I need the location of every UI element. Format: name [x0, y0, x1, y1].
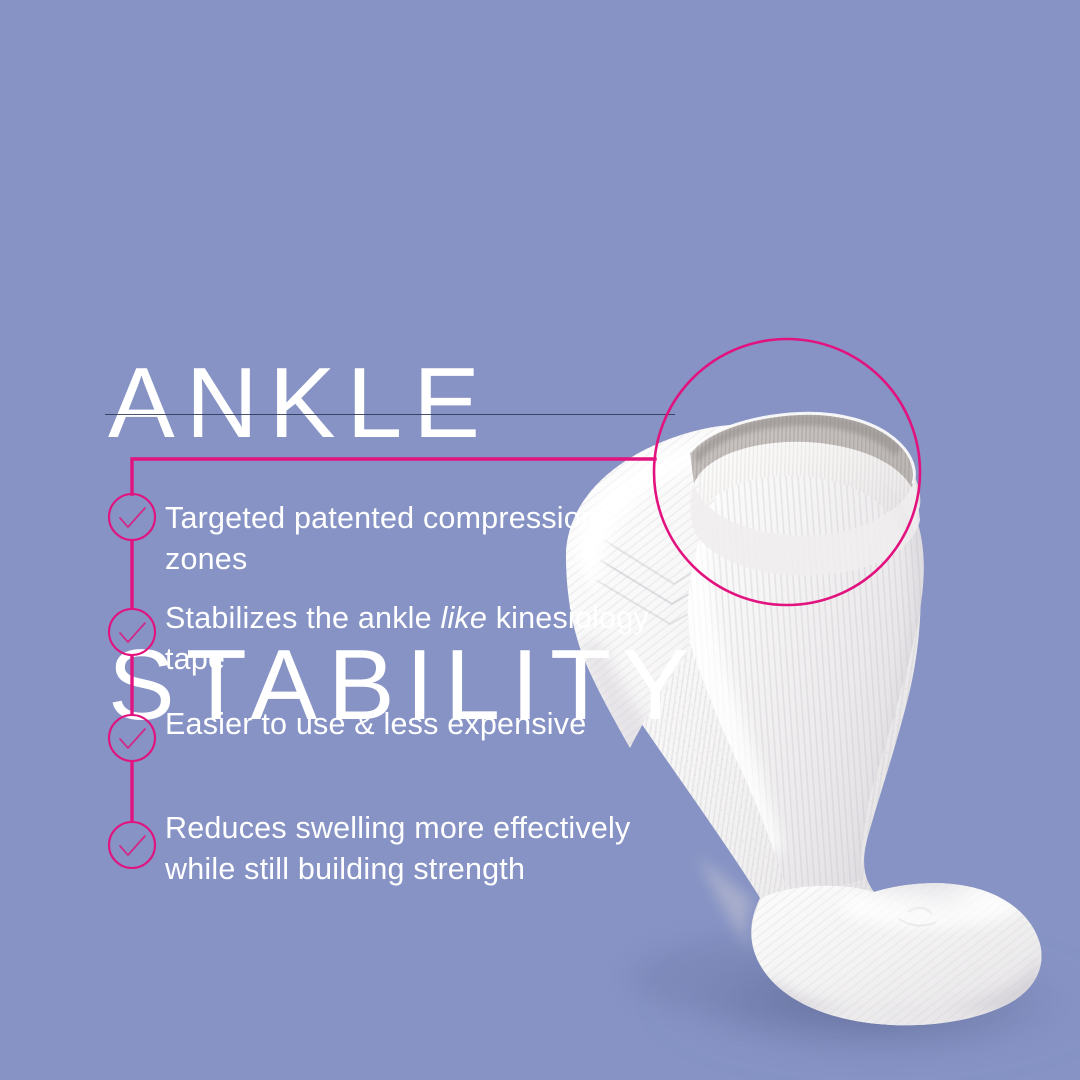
benefit-item-stabilizes-ankle: Stabilizes the ankle like kinesiology ta…: [165, 598, 685, 680]
benefit-item-targeted-compression: Targeted patented compression zones: [165, 498, 685, 580]
benefit-label-3: Easier to use & less expensive: [165, 707, 586, 741]
title-divider: [105, 414, 675, 415]
benefit-label-4: Reduces swelling more effectively while …: [165, 811, 630, 886]
benefit-item-easier-to-use: Easier to use & less expensive: [165, 704, 685, 745]
benefit-label-1: Targeted patented compression zones: [165, 501, 598, 576]
benefit-item-reduces-swelling: Reduces swelling more effectively while …: [165, 808, 685, 890]
benefit-label-2-emphasis: like: [440, 601, 487, 635]
infographic-canvas: ANKLE STABILITY: [0, 0, 1080, 1080]
benefit-label-2-part-1: Stabilizes the ankle: [165, 601, 440, 635]
page-title-line-1: ANKLE: [108, 356, 868, 450]
